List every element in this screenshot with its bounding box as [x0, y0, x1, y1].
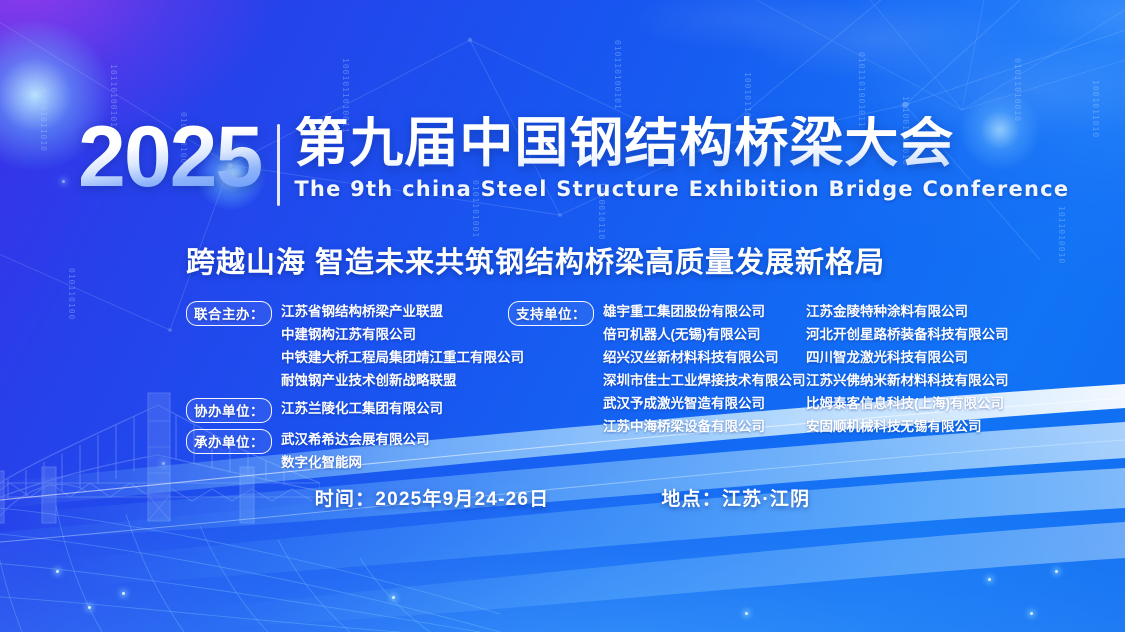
footer-info: 时间：2025年9月24-26日 地点：江苏·江阴	[0, 484, 1125, 511]
undertaker-label: 承办单位：	[186, 429, 272, 454]
title-block: 第九届中国钢结构桥梁大会 The 9th china Steel Structu…	[294, 116, 1069, 201]
joint-host-block: 联合主办： 江苏省钢结构桥梁产业联盟 中建钢构江苏有限公司 中铁建大桥工程局集团…	[186, 300, 506, 392]
supporter-item: 江苏金陵特种涂料有限公司	[806, 300, 1066, 323]
supporter-item: 比姆泰客信息科技(上海)有限公司	[806, 392, 1066, 415]
joint-host-label: 联合主办：	[186, 301, 272, 326]
joint-host-item: 中建钢构江苏有限公司	[281, 323, 524, 346]
joint-host-list: 江苏省钢结构桥梁产业联盟 中建钢构江苏有限公司 中铁建大桥工程局集团靖江重工有限…	[281, 300, 524, 392]
event-location: 地点：江苏·江阴	[661, 484, 810, 511]
conference-banner: 01001011010 10110100101 01011010010 1001…	[0, 0, 1125, 632]
supporter-item: 深圳市佳士工业焊接技术有限公司	[603, 369, 806, 392]
co-organizer-list: 江苏兰陵化工集团有限公司	[281, 397, 443, 420]
banner-content: 2025 第九届中国钢结构桥梁大会 The 9th china Steel St…	[0, 0, 1125, 632]
supporter-item: 武汉予成激光智造有限公司	[603, 392, 806, 415]
joint-host-item: 耐蚀钢产业技术创新战略联盟	[281, 369, 524, 392]
joint-host-item: 中铁建大桥工程局集团靖江重工有限公司	[281, 346, 524, 369]
event-date: 时间：2025年9月24-26日	[315, 484, 550, 511]
conference-title-cn: 第九届中国钢结构桥梁大会	[294, 116, 1069, 172]
organizer-column-right: 江苏金陵特种涂料有限公司 河北开创星路桥装备科技有限公司 四川智龙激光科技有限公…	[806, 300, 1066, 438]
year-number: 2025	[78, 118, 261, 197]
conference-tagline: 跨越山海 智造未来共筑钢结构桥梁高质量发展新格局	[186, 239, 885, 281]
organizer-column-middle: 支持单位： 雄宇重工集团股份有限公司 倍可机器人(无锡)有限公司 绍兴汉丝新材料…	[508, 300, 808, 438]
conference-title-en: The 9th china Steel Structure Exhibition…	[294, 177, 1069, 201]
supporter-item: 江苏兴佛纳米新材料科技有限公司	[806, 369, 1066, 392]
organizer-column-left: 联合主办： 江苏省钢结构桥梁产业联盟 中建钢构江苏有限公司 中铁建大桥工程局集团…	[186, 300, 506, 474]
undertaker-block: 承办单位： 武汉希希达会展有限公司 数字化智能网	[186, 428, 506, 474]
supporter-item: 江苏中海桥梁设备有限公司	[603, 415, 806, 438]
co-organizer-item: 江苏兰陵化工集团有限公司	[281, 397, 443, 420]
supporter-item: 绍兴汉丝新材料科技有限公司	[603, 346, 806, 369]
undertaker-item: 武汉希希达会展有限公司	[281, 428, 430, 451]
supporter-block: 支持单位： 雄宇重工集团股份有限公司 倍可机器人(无锡)有限公司 绍兴汉丝新材料…	[508, 300, 808, 438]
joint-host-item: 江苏省钢结构桥梁产业联盟	[281, 300, 524, 323]
supporter-item: 四川智龙激光科技有限公司	[806, 346, 1066, 369]
supporter-item: 雄宇重工集团股份有限公司	[603, 300, 806, 323]
supporter-item: 河北开创星路桥装备科技有限公司	[806, 323, 1066, 346]
undertaker-list: 武汉希希达会展有限公司 数字化智能网	[281, 428, 430, 474]
supporter-item: 倍可机器人(无锡)有限公司	[603, 323, 806, 346]
supporter-label: 支持单位：	[508, 301, 594, 326]
co-organizer-label: 协办单位：	[186, 398, 272, 423]
supporter-list-one: 雄宇重工集团股份有限公司 倍可机器人(无锡)有限公司 绍兴汉丝新材料科技有限公司…	[603, 300, 806, 438]
undertaker-item: 数字化智能网	[281, 451, 430, 474]
title-divider	[277, 124, 280, 206]
supporter-item: 安固顺机械科技无锡有限公司	[806, 415, 1066, 438]
co-organizer-block: 协办单位： 江苏兰陵化工集团有限公司	[186, 397, 506, 423]
title-bar: 2025 第九届中国钢结构桥梁大会 The 9th china Steel St…	[78, 118, 1069, 206]
